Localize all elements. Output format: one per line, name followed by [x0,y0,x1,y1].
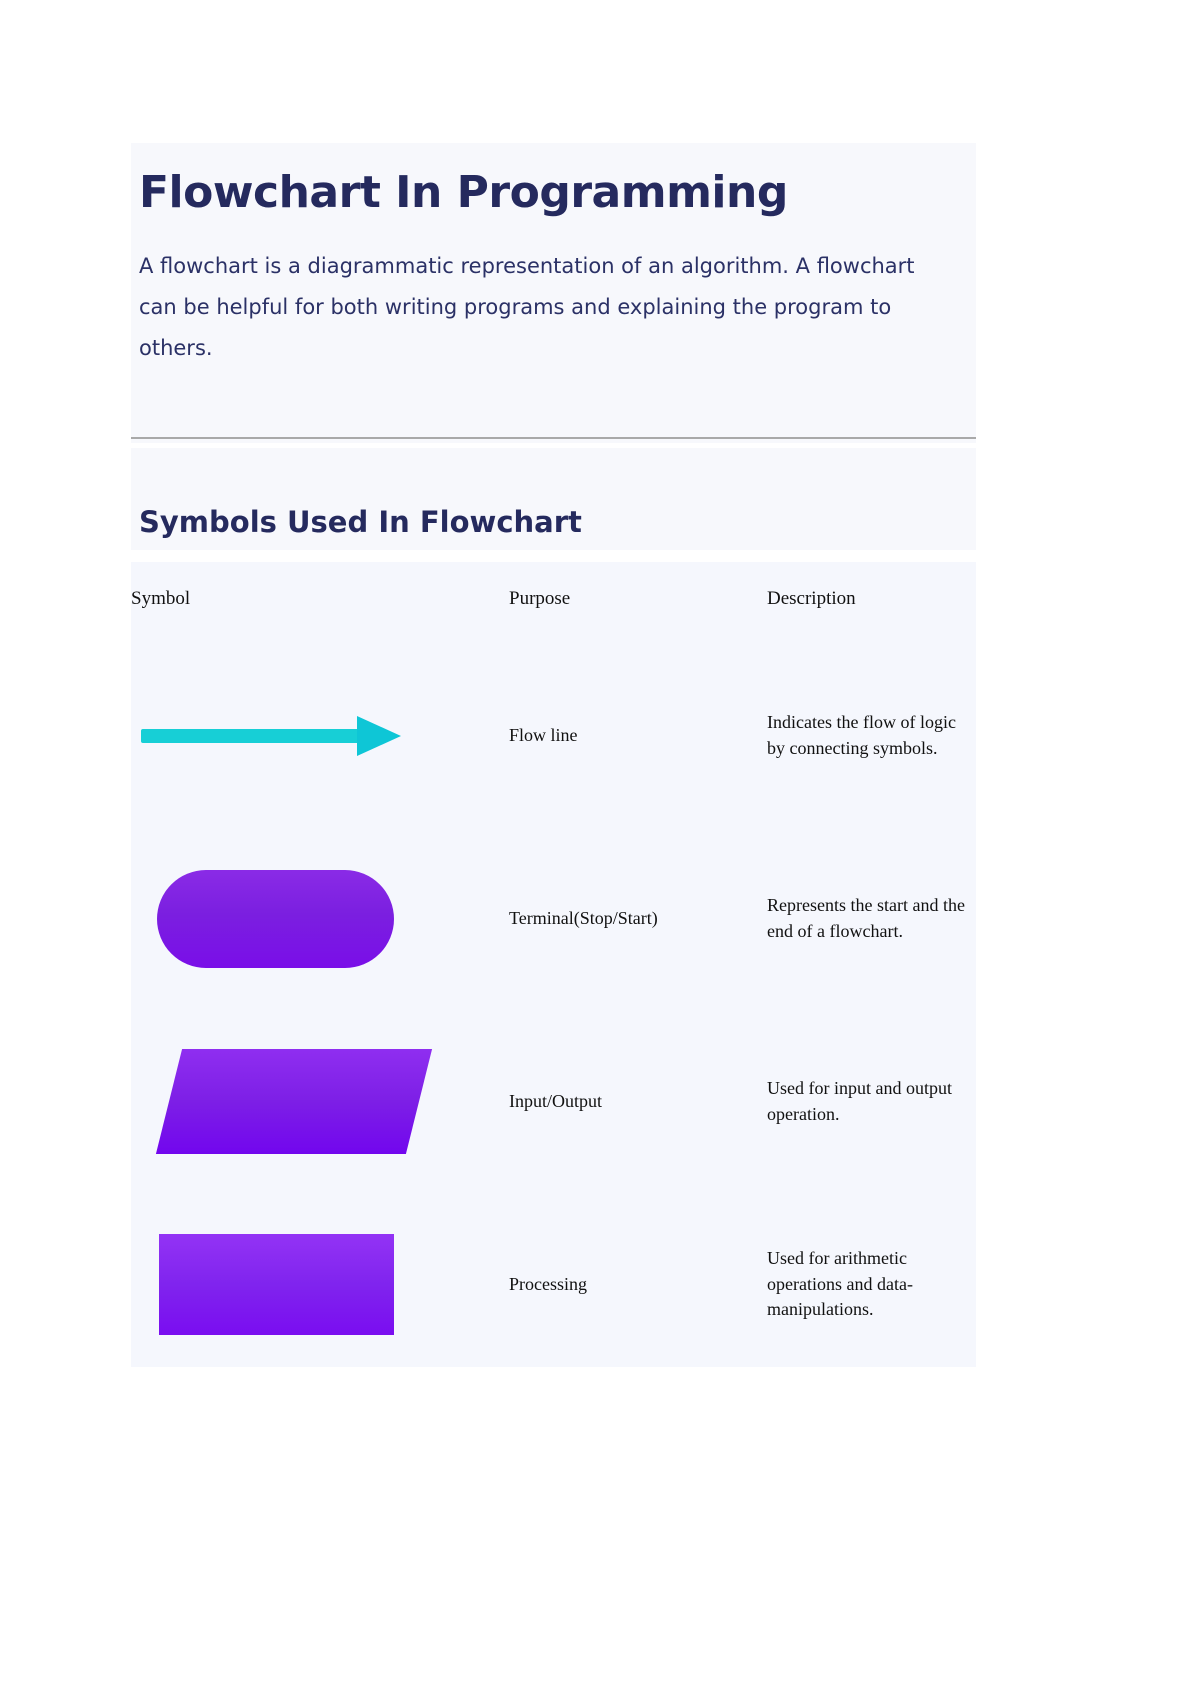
document-page: Flowchart In Programming A flowchart is … [0,0,1200,1696]
description-cell: Used for input and output operation. [767,1010,976,1193]
purpose-cell: Input/Output [509,1010,767,1193]
purpose-cell: Processing [509,1193,767,1376]
shape-area [131,1210,461,1360]
symbol-cell [131,827,509,1010]
column-header-description: Description [767,562,976,644]
table-head: Symbol Purpose Description [131,562,976,644]
description-cell: Used for arithmetic operations and data-… [767,1193,976,1376]
purpose-cell: Terminal(Stop/Start) [509,827,767,1010]
page-title: Flowchart In Programming [131,143,976,220]
arrow-shaft [141,729,363,743]
intro-panel: Flowchart In Programming A flowchart is … [131,143,976,443]
description-cell: Represents the start and the end of a fl… [767,827,976,1010]
table-row: Processing Used for arithmetic operation… [131,1193,976,1376]
symbol-cell [131,644,509,827]
terminal-stadium-icon [157,870,394,968]
table-body: Flow line Indicates the flow of logic by… [131,644,976,1376]
flow-line-arrow-icon [141,716,413,756]
symbol-cell [131,1010,509,1193]
symbol-cell [131,1193,509,1376]
symbols-table: Symbol Purpose Description [131,562,976,1376]
shape-area [131,1027,461,1177]
purpose-cell: Flow line [509,644,767,827]
table-header-row: Symbol Purpose Description [131,562,976,644]
symbols-table-container: Symbol Purpose Description [131,562,976,1367]
shape-area [131,844,461,994]
arrow-head [357,716,401,756]
intro-spacer [131,369,976,443]
description-cell: Indicates the flow of logic by connectin… [767,644,976,827]
input-output-parallelogram-icon [156,1049,432,1154]
section-divider [131,437,976,439]
processing-rectangle-icon [159,1234,394,1335]
section-heading: Symbols Used In Flowchart [131,448,976,540]
table-row: Flow line Indicates the flow of logic by… [131,644,976,827]
shape-area [131,661,461,811]
column-header-symbol: Symbol [131,562,509,644]
column-header-purpose: Purpose [509,562,767,644]
section-panel: Symbols Used In Flowchart [131,448,976,550]
intro-paragraph: A flowchart is a diagrammatic representa… [131,220,964,369]
table-row: Terminal(Stop/Start) Represents the star… [131,827,976,1010]
table-row: Input/Output Used for input and output o… [131,1010,976,1193]
